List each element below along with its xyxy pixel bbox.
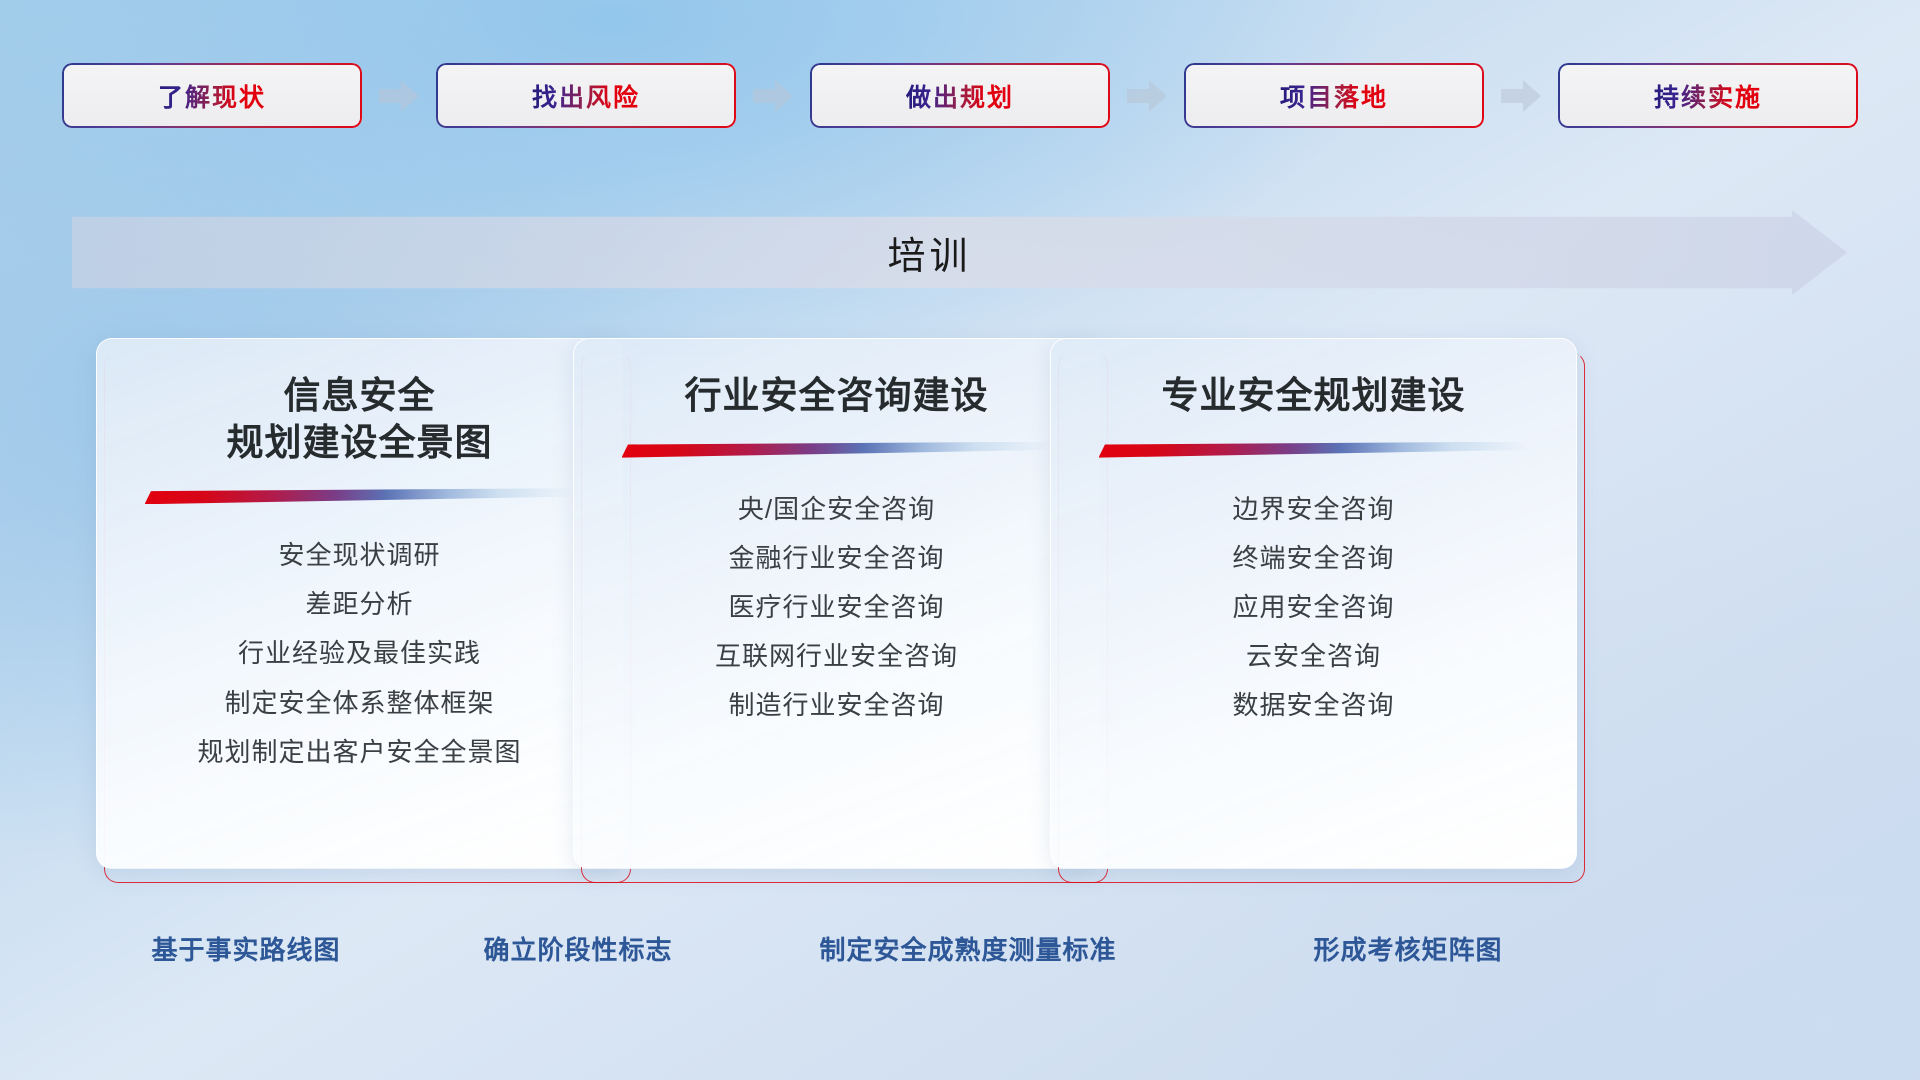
step-arrow-icon-4 [1501, 80, 1541, 112]
process-step-5[interactable]: 持续实施 [1558, 63, 1858, 128]
card-3-face: 专业安全规划建设 边界安全咨询 终端安全咨询 应用安全咨询 云安全咨询 数据安全… [1050, 338, 1577, 869]
card-2-list: 央/国企安全咨询 金融行业安全咨询 医疗行业安全咨询 互联网行业安全咨询 制造行… [574, 488, 1099, 727]
process-step-4[interactable]: 项目落地 [1184, 63, 1484, 128]
card-2[interactable]: 行业安全咨询建设 央/国企安全咨询 金融行业安全咨询 医疗行业安全咨询 互联网行… [573, 338, 1108, 883]
caption-2: 确立阶段性标志 [483, 930, 672, 967]
training-banner: 培训 [72, 210, 1847, 295]
banner-title: 培训 [72, 210, 1847, 295]
card-1-title: 信息安全 规划建设全景图 [97, 373, 622, 466]
card-1-list: 安全现状调研 差距分析 行业经验及最佳实践 制定安全体系整体框架 规划制定出客户… [97, 534, 622, 773]
process-step-3-label: 做出规划 [906, 78, 1014, 114]
step-arrow-icon-2 [753, 80, 793, 112]
card-1[interactable]: 信息安全 规划建设全景图 安全现状调研 差距分析 行业经验及最佳实践 制定安全体… [96, 338, 631, 883]
caption-1: 基于事实路线图 [151, 930, 340, 967]
card-2-divider-bar [622, 442, 1052, 458]
list-item: 互联网行业安全咨询 [715, 635, 958, 677]
caption-3: 制定安全成熟度测量标准 [819, 930, 1116, 967]
card-3-divider [1099, 442, 1529, 458]
caption-row: 基于事实路线图 确立阶段性标志 制定安全成熟度测量标准 形成考核矩阵图 [0, 930, 1920, 970]
list-item: 制造行业安全咨询 [728, 684, 944, 726]
list-item: 央/国企安全咨询 [738, 488, 935, 530]
process-step-row: 了解现状 找出风险 做出规划 项目落地 [62, 63, 1858, 128]
card-2-divider [622, 442, 1052, 458]
card-3-list: 边界安全咨询 终端安全咨询 应用安全咨询 云安全咨询 数据安全咨询 [1051, 488, 1576, 727]
list-item: 行业经验及最佳实践 [238, 632, 481, 674]
caption-4: 形成考核矩阵图 [1313, 930, 1502, 967]
card-2-face: 行业安全咨询建设 央/国企安全咨询 金融行业安全咨询 医疗行业安全咨询 互联网行… [573, 338, 1100, 869]
step-arrow-icon-1 [379, 80, 419, 112]
process-step-1-label: 了解现状 [158, 78, 266, 114]
list-item: 云安全咨询 [1246, 635, 1381, 677]
list-item: 数据安全咨询 [1232, 684, 1394, 726]
list-item: 边界安全咨询 [1232, 488, 1394, 530]
card-2-title: 行业安全咨询建设 [574, 373, 1099, 420]
process-step-3[interactable]: 做出规划 [810, 63, 1110, 128]
list-item: 制定安全体系整体框架 [224, 682, 494, 724]
list-item: 应用安全咨询 [1232, 586, 1394, 628]
card-1-divider-bar [145, 488, 575, 504]
card-3[interactable]: 专业安全规划建设 边界安全咨询 终端安全咨询 应用安全咨询 云安全咨询 数据安全… [1050, 338, 1585, 883]
card-3-title: 专业安全规划建设 [1051, 373, 1576, 420]
list-item: 安全现状调研 [278, 534, 440, 576]
process-step-2[interactable]: 找出风险 [436, 63, 736, 128]
process-step-5-label: 持续实施 [1654, 78, 1762, 114]
card-row: 信息安全 规划建设全景图 安全现状调研 差距分析 行业经验及最佳实践 制定安全体… [0, 330, 1920, 890]
step-arrow-icon-3 [1127, 80, 1167, 112]
process-step-4-label: 项目落地 [1280, 78, 1388, 114]
card-1-divider [145, 488, 575, 504]
slide-canvas: 了解现状 找出风险 做出规划 项目落地 [0, 0, 1920, 1080]
process-step-2-label: 找出风险 [532, 78, 640, 114]
card-1-face: 信息安全 规划建设全景图 安全现状调研 差距分析 行业经验及最佳实践 制定安全体… [96, 338, 623, 869]
card-3-divider-bar [1099, 442, 1529, 458]
process-step-1[interactable]: 了解现状 [62, 63, 362, 128]
list-item: 规划制定出客户安全全景图 [197, 731, 521, 773]
list-item: 终端安全咨询 [1232, 537, 1394, 579]
list-item: 差距分析 [305, 583, 413, 625]
list-item: 医疗行业安全咨询 [728, 586, 944, 628]
list-item: 金融行业安全咨询 [728, 537, 944, 579]
